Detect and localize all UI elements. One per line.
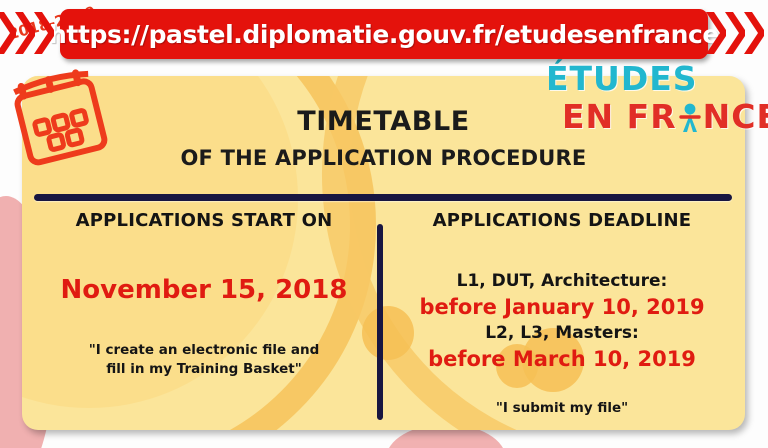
page-subtitle: OF THE APPLICATION PROCEDURE: [22, 146, 745, 170]
deadline-label-1: L1, DUT, Architecture:: [388, 271, 736, 291]
start-note: "I create an electronic file and fill in…: [36, 341, 372, 378]
deadline-note: "I submit my file": [388, 399, 736, 418]
logo-france-text: NCE: [703, 97, 768, 136]
start-date: November 15, 2018: [36, 275, 372, 305]
deadline-date-1: before January 10, 2019: [388, 295, 736, 319]
url-banner[interactable]: https://pastel.diplomatie.gouv.fr/etudes…: [60, 9, 708, 59]
logo-line-en-france: EN FR NCE: [562, 100, 768, 133]
start-note-line-1: "I create an electronic file and: [36, 341, 372, 360]
double-chevron-right-icon: [725, 10, 745, 56]
url-text: https://pastel.diplomatie.gouv.fr/etudes…: [49, 20, 719, 49]
double-chevron-right-icon: [15, 10, 35, 56]
deadline-date-2: before March 10, 2019: [388, 347, 736, 371]
double-chevron-right-icon: [34, 10, 54, 56]
start-note-line-2: fill in my Training Basket": [36, 360, 372, 379]
double-chevron-right-icon: [706, 10, 726, 56]
column-applications-deadline: APPLICATIONS DEADLINE L1, DUT, Architect…: [388, 210, 736, 418]
horizontal-divider: [34, 194, 732, 201]
poster-canvas: https://pastel.diplomatie.gouv.fr/etudes…: [0, 0, 768, 448]
deadline-label-2: L2, L3, Masters:: [388, 323, 736, 343]
column-heading-deadline: APPLICATIONS DEADLINE: [388, 210, 736, 231]
double-chevron-right-icon: [744, 10, 764, 56]
calendar-icon: [8, 66, 112, 170]
logo-en-fr-text: EN FR: [562, 97, 677, 136]
etudes-en-france-logo: ÉTUDES EN FR NCE: [546, 62, 768, 133]
column-heading-start: APPLICATIONS START ON: [36, 210, 372, 231]
chevron-group-left: [0, 10, 53, 56]
double-chevron-right-icon: [0, 10, 16, 56]
vertical-divider: [377, 224, 383, 420]
column-applications-start: APPLICATIONS START ON November 15, 2018 …: [36, 210, 372, 378]
logo-line-etudes: ÉTUDES: [546, 62, 768, 95]
chevron-group-right: [706, 10, 763, 56]
